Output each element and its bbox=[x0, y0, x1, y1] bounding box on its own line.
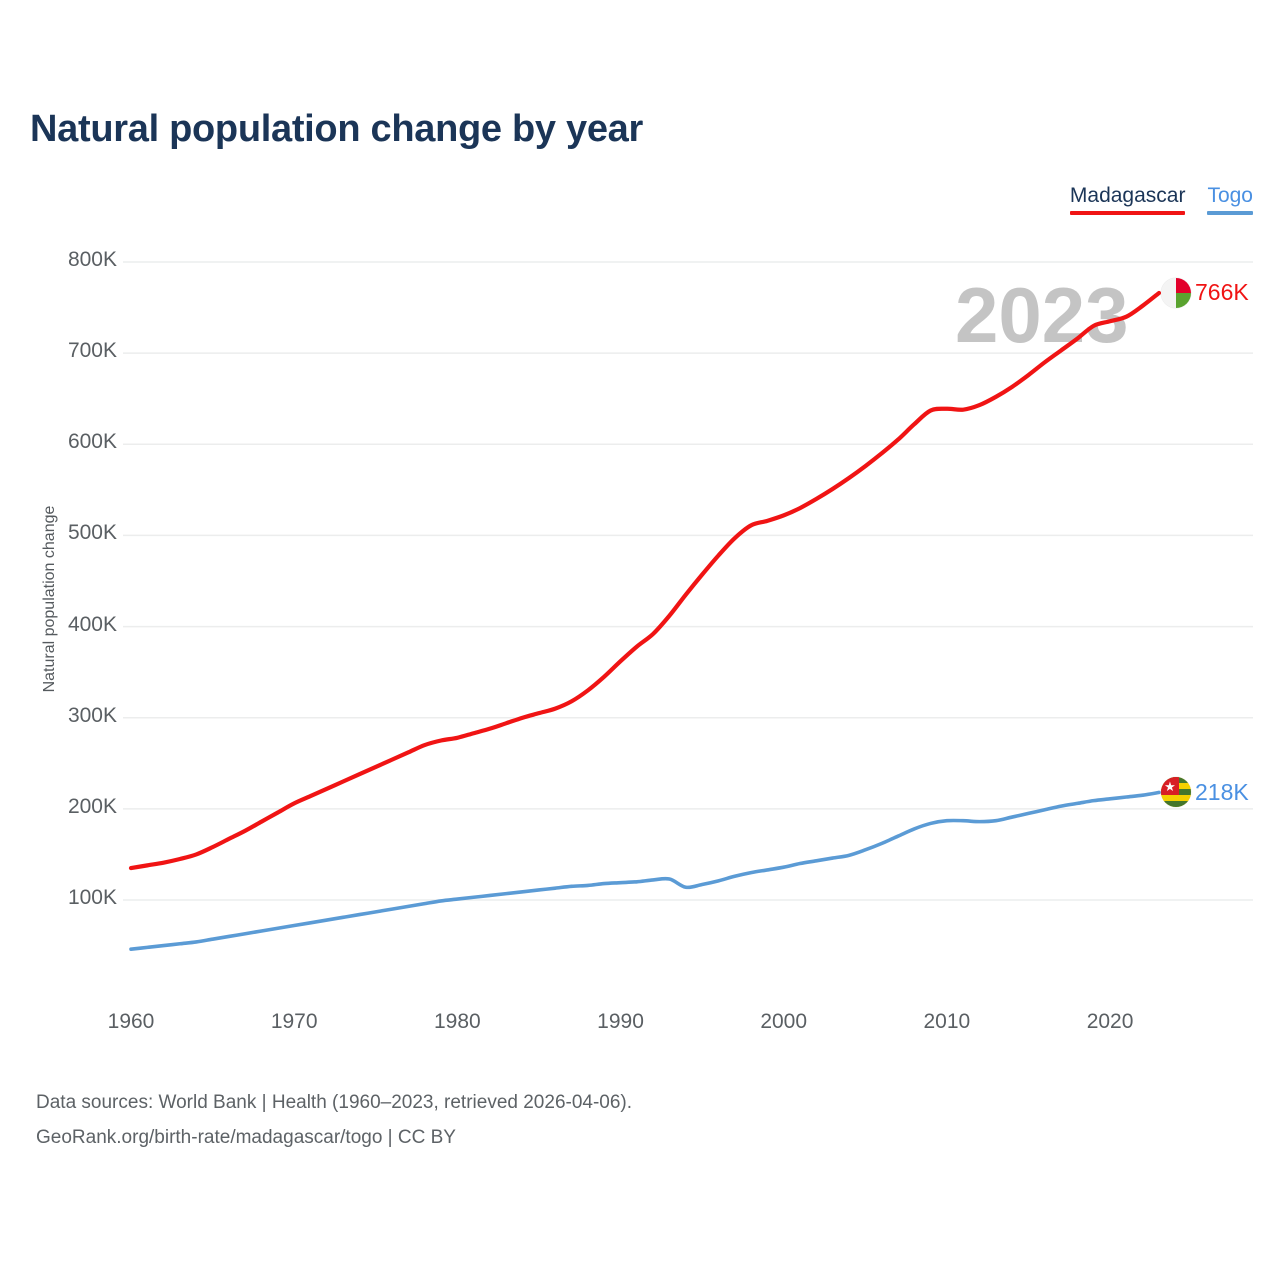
y-tick-label: 200K bbox=[27, 795, 117, 819]
y-tick-label: 500K bbox=[27, 521, 117, 545]
x-tick-label: 1980 bbox=[412, 1010, 502, 1034]
endpoint-value-togo: 218K bbox=[1195, 779, 1249, 806]
y-tick-label: 600K bbox=[27, 430, 117, 454]
x-tick-label: 1960 bbox=[86, 1010, 176, 1034]
endpoint-value-madagascar: 766K bbox=[1195, 279, 1249, 306]
y-tick-label: 400K bbox=[27, 613, 117, 637]
endpoint-togo[interactable]: ★ 218K bbox=[1161, 777, 1249, 807]
endpoint-madagascar[interactable]: 766K bbox=[1161, 278, 1249, 308]
x-tick-label: 2010 bbox=[902, 1010, 992, 1034]
series-line-togo[interactable] bbox=[131, 792, 1159, 949]
togo-flag-icon: ★ bbox=[1161, 777, 1191, 807]
series-line-madagascar[interactable] bbox=[131, 293, 1159, 868]
footer-sources: Data sources: World Bank | Health (1960–… bbox=[36, 1085, 632, 1155]
x-tick-label: 1990 bbox=[576, 1010, 666, 1034]
y-tick-label: 300K bbox=[27, 704, 117, 728]
x-tick-label: 2000 bbox=[739, 1010, 829, 1034]
footer-line-2: GeoRank.org/birth-rate/madagascar/togo |… bbox=[36, 1120, 632, 1155]
x-tick-label: 1970 bbox=[249, 1010, 339, 1034]
footer-line-1: Data sources: World Bank | Health (1960–… bbox=[36, 1085, 632, 1120]
madagascar-flag-icon bbox=[1161, 278, 1191, 308]
y-tick-label: 800K bbox=[27, 248, 117, 272]
chart-page: Natural population change by year Madaga… bbox=[0, 0, 1280, 1280]
x-tick-label: 2020 bbox=[1065, 1010, 1155, 1034]
y-tick-label: 700K bbox=[27, 339, 117, 363]
y-tick-label: 100K bbox=[27, 886, 117, 910]
